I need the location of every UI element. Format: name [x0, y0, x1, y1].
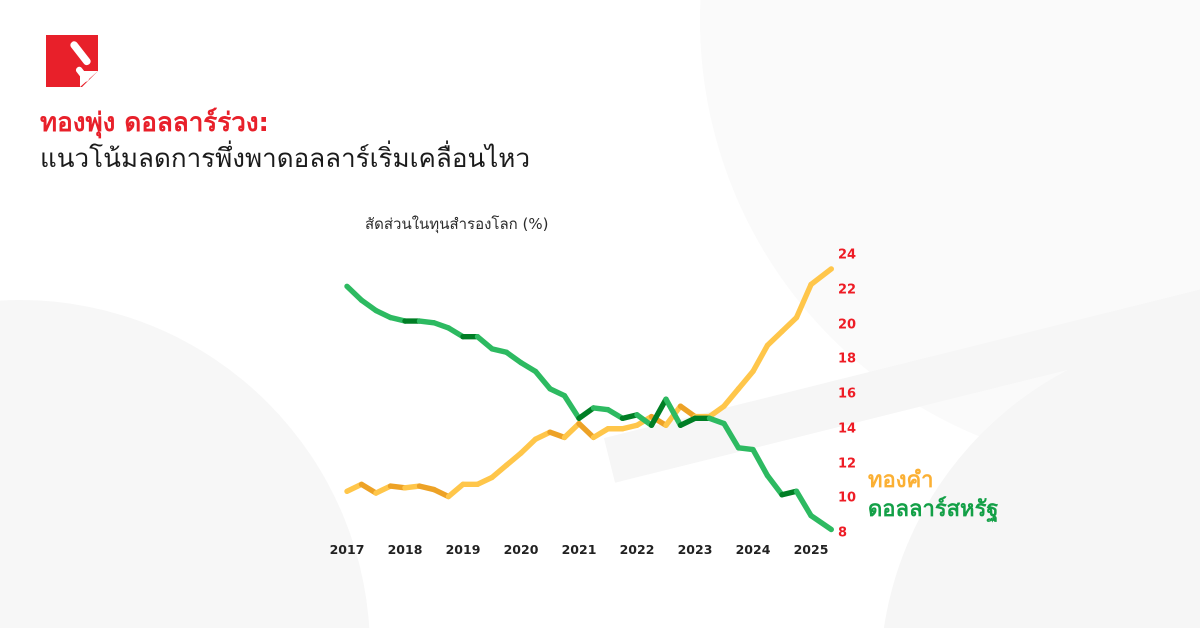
y-axis-tick-24: 24 [838, 248, 856, 263]
legend-item-gold: ทองคำ [868, 466, 999, 495]
x-axis-tick-2024: 2024 [736, 542, 771, 557]
x-axis-tick-2022: 2022 [620, 542, 655, 557]
line-chart-plot [0, 0, 1200, 628]
y-axis-tick-8: 8 [838, 526, 847, 541]
x-axis-tick-2019: 2019 [446, 542, 481, 557]
x-axis-tick-2018: 2018 [388, 542, 423, 557]
chart-container: สัดส่วนในทุนสำรองโลก (%) 81012141618 [0, 0, 1200, 628]
x-axis-tick-2020: 2020 [504, 542, 539, 557]
y-axis-tick-20: 20 [838, 317, 856, 332]
x-axis-tick-2017: 2017 [330, 542, 365, 557]
data-series-layer [347, 269, 831, 530]
y-axis-tick-22: 22 [838, 282, 856, 297]
x-axis-tick-2021: 2021 [562, 542, 597, 557]
legend-item-usdollar: ดอลลาร์สหรัฐ [868, 495, 999, 524]
infographic-canvas: ทองพุ่ง ดอลลาร์ร่วง: แนวโน้มลดการพึ่งพาด… [0, 0, 1200, 628]
y-axis-tick-12: 12 [838, 456, 856, 471]
y-axis-tick-16: 16 [838, 387, 856, 402]
x-axis-tick-2025: 2025 [794, 542, 829, 557]
y-axis-tick-14: 14 [838, 421, 856, 436]
y-axis-tick-10: 10 [838, 491, 856, 506]
series-usdollar [347, 286, 831, 529]
y-axis-tick-18: 18 [838, 352, 856, 367]
chart-legend: ทองคำ ดอลลาร์สหรัฐ [868, 466, 999, 524]
x-axis-tick-2023: 2023 [678, 542, 713, 557]
